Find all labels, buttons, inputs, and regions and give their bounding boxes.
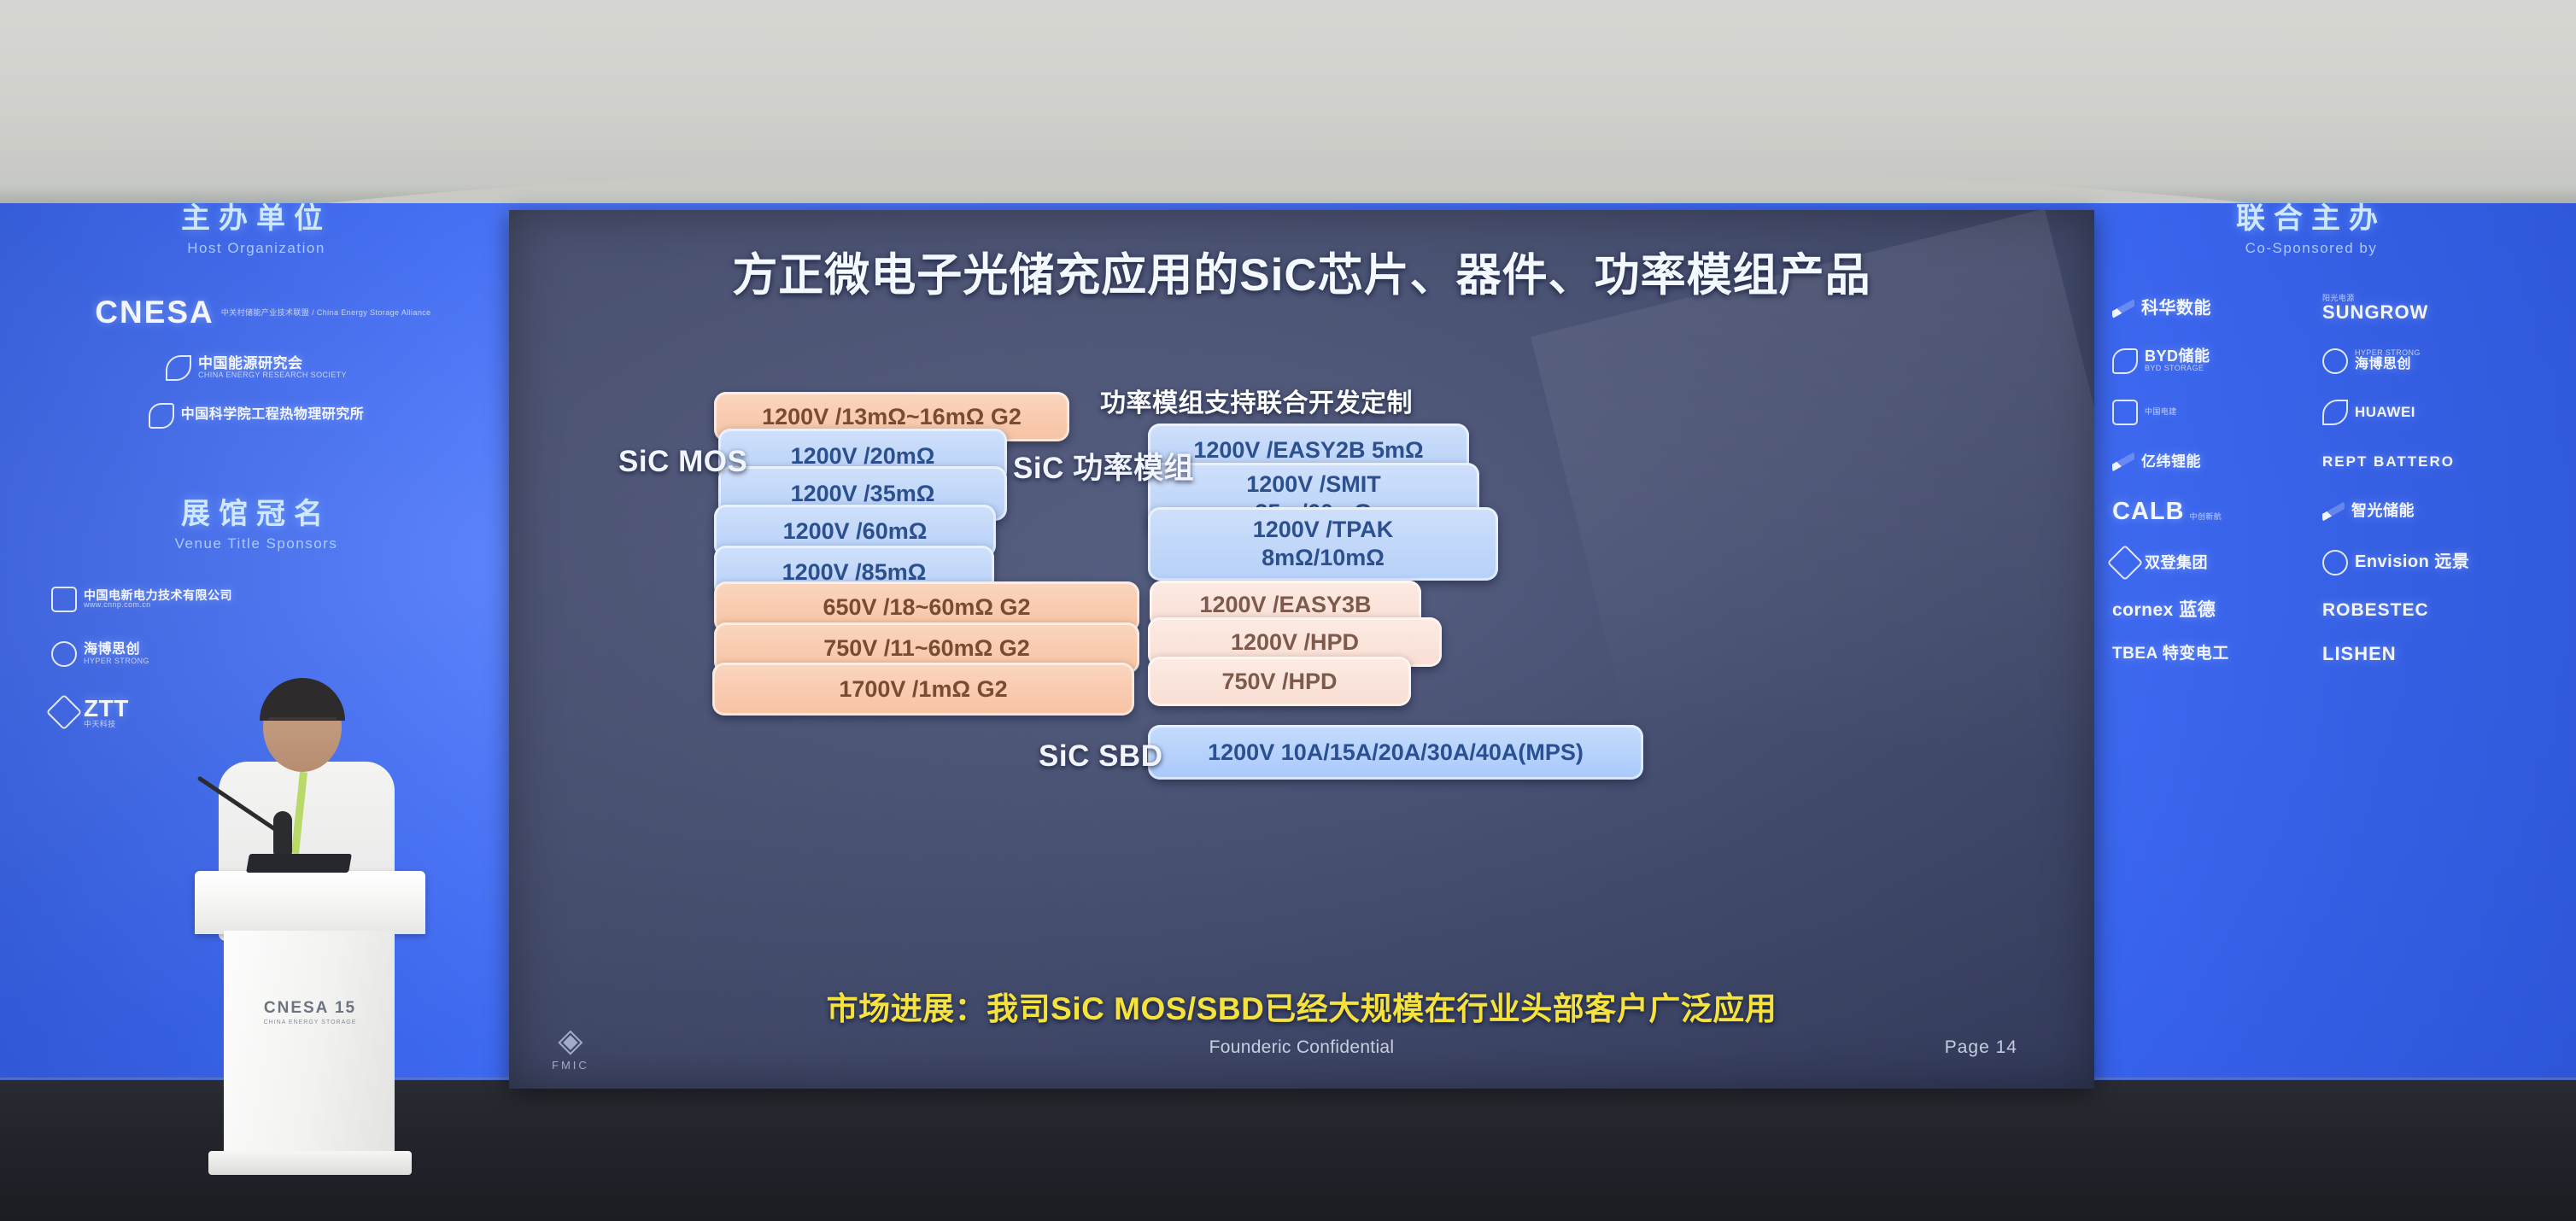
logo-powerchina-name: 中国电建 [2145, 408, 2177, 416]
cosponsor-heading-en: Co-Sponsored by [2046, 240, 2576, 257]
cosponsor-row-6: 双登集团 Envision 远景 [2046, 550, 2576, 575]
logo-cers-name: 中国能源研究会 [198, 356, 303, 371]
podium: CNESA 15 CHINA ENERGY STORAGE [195, 871, 425, 1178]
podium-base [208, 1151, 412, 1175]
cosponsor-row-4: 亿纬锂能 REPT BATTERO [2046, 451, 2576, 473]
podium-logo-main: CNESA 15 [195, 999, 425, 1018]
shoto-icon [2107, 545, 2143, 581]
logo-iet-cas-name: 中国科学院工程热物理研究所 [181, 408, 365, 423]
logo-hyperstrong2-sub: HYPER STRONG [2355, 349, 2421, 357]
logo-kehua-name: 科华数能 [2141, 300, 2211, 318]
logo-sungrow-sub: 阳光电源 [2322, 295, 2355, 302]
logo-lishen: LISHEN [2322, 644, 2510, 663]
zhiguang-icon [2322, 500, 2345, 523]
cosponsor-row-3: 中国电建 HUAWEI [2046, 400, 2576, 425]
page-number: Page 14 [1945, 1037, 2017, 1058]
podium-body [224, 931, 395, 1154]
cosponsor-row-7: cornex 蓝德 ROBESTEC [2046, 601, 2576, 620]
speaker-hair [260, 678, 345, 721]
logo-shoto-name: 双登集团 [2145, 555, 2208, 571]
sic-power-module-label: SiC 功率模组 [1013, 444, 1194, 488]
logo-ztt: ZTT 中天科技 [51, 696, 129, 729]
fmic-name: FMIC [552, 1059, 589, 1072]
logo-hyperstrong-name: 海博思创 [84, 643, 140, 657]
slide-footer: ◈ FMIC Founderic Confidential Page 14 [509, 1022, 2094, 1073]
logo-eve-name: 亿纬锂能 [2141, 454, 2201, 470]
projected-slide: 方正微电子光储充应用的SiC芯片、器件、功率模组产品 SiC MOS 1200V… [509, 210, 2094, 1089]
sic-mos-item-7[interactable]: 1700V /1mΩ G2 [712, 663, 1134, 716]
logo-calb-name: CALB [2112, 499, 2185, 524]
logo-tbea: TBEA 特变电工 [2112, 646, 2283, 663]
logo-lishen-name: LISHEN [2322, 644, 2397, 663]
host-logo-row-2: 中国能源研究会 CHINA ENERGY RESEARCH SOCIETY [0, 355, 512, 381]
logo-ztt-name: ZTT [84, 696, 129, 721]
power-module-item-2[interactable]: 1200V /TPAK 8mΩ/10mΩ [1148, 507, 1498, 581]
host-heading-en: Host Organization [0, 240, 512, 257]
logo-iet-cas: 中国科学院工程热物理研究所 [149, 403, 365, 429]
logo-zhiguang: 智光储能 [2322, 500, 2510, 523]
venue-heading-en: Venue Title Sponsors [0, 535, 512, 552]
powerchina-icon [2112, 400, 2138, 425]
logo-sungrow: 阳光电源 SUNGROW [2322, 295, 2510, 323]
byd-icon [2112, 348, 2138, 374]
building-icon [51, 587, 77, 612]
cosponsor-row-1: 科华数能 阳光电源 SUNGROW [2046, 295, 2576, 323]
logo-cornex: cornex 蓝德 [2112, 601, 2283, 620]
cosponsor-row-8: TBEA 特变电工 LISHEN [2046, 644, 2576, 663]
logo-cers: 中国能源研究会 CHINA ENERGY RESEARCH SOCIETY [166, 355, 347, 381]
right-sponsor-panel: 联合主办 Co-Sponsored by 科华数能 阳光电源 SUNGROW B… [2046, 203, 2576, 1142]
logo-hyperstrong-2: HYPER STRONG 海博思创 [2322, 348, 2510, 374]
cosponsor-row-2: BYD储能 BYD STORAGE HYPER STRONG 海博思创 [2046, 348, 2576, 374]
logo-robestec-name: ROBESTEC [2322, 601, 2429, 620]
cosponsor-heading: 联合主办 Co-Sponsored by [2046, 195, 2576, 257]
logo-hyperstrong2-name: 海博思创 [2355, 358, 2411, 372]
venue-heading-cn: 展馆冠名 [0, 490, 512, 532]
logo-tbea-name: TBEA 特变电工 [2112, 646, 2229, 663]
logo-zhiguang-name: 智光储能 [2351, 503, 2415, 519]
logo-byd-storage: BYD储能 BYD STORAGE [2112, 348, 2283, 374]
logo-cnesa-sub: 中关村储能产业技术联盟 / China Energy Storage Allia… [221, 309, 431, 317]
logo-sungrow-name: SUNGROW [2322, 302, 2428, 322]
podium-logo-sub: CHINA ENERGY STORAGE [195, 1019, 425, 1025]
logo-shoto: 双登集团 [2112, 550, 2283, 575]
wing-icon [2112, 297, 2134, 319]
huawei-petal-icon [2322, 400, 2348, 425]
power-module-heading: 功率模组支持联合开发定制 [1100, 382, 1413, 419]
logo-envision: Envision 远景 [2322, 550, 2510, 575]
confidential-label: Founderic Confidential [509, 1037, 2094, 1058]
cosponsor-row-5: CALB 中创新航 智光储能 [2046, 499, 2576, 524]
host-logo-row-1: CNESA 中关村储能产业技术联盟 / China Energy Storage… [0, 296, 512, 330]
logo-kehua: 科华数能 [2112, 297, 2283, 319]
eve-icon [2112, 451, 2134, 473]
sic-sbd-item[interactable]: 1200V 10A/15A/20A/30A/40A(MPS) [1148, 725, 1643, 780]
hexagon-icon [51, 641, 77, 667]
logo-ztt-sub: 中天科技 [84, 721, 116, 728]
logo-huawei: HUAWEI [2322, 400, 2510, 425]
logo-robestec: ROBESTEC [2322, 601, 2510, 620]
lotus-icon [166, 355, 191, 381]
logo-cnnp: 中国电新电力技术有限公司 www.cnnp.com.cn [51, 587, 232, 612]
venue-logo-row-1: 中国电新电力技术有限公司 www.cnnp.com.cn [51, 587, 512, 612]
sic-sbd-label: SiC SBD [1039, 739, 1162, 774]
logo-eve: 亿纬锂能 [2112, 451, 2283, 473]
host-heading-cn: 主办单位 [0, 195, 512, 237]
envision-icon [2322, 550, 2348, 575]
venue-title-heading: 展馆冠名 Venue Title Sponsors [0, 490, 512, 552]
logo-hyperstrong-sub: HYPER STRONG [84, 657, 149, 665]
podium-top [195, 871, 425, 934]
logo-huawei-name: HUAWEI [2355, 405, 2415, 420]
power-module-item-5[interactable]: 750V /HPD [1148, 657, 1411, 706]
host-organization-heading: 主办单位 Host Organization [0, 195, 512, 257]
logo-calb: CALB 中创新航 [2112, 499, 2283, 524]
laptop-on-podium [246, 854, 352, 873]
logo-byd-sub: BYD STORAGE [2145, 365, 2204, 372]
logo-cnesa-name: CNESA [95, 296, 214, 330]
slide-title: 方正微电子光储充应用的SiC芯片、器件、功率模组产品 [509, 239, 2094, 304]
cosponsor-heading-cn: 联合主办 [2046, 195, 2576, 237]
logo-cornex-name: cornex 蓝德 [2112, 601, 2216, 620]
logo-cnnp-sub: www.cnnp.com.cn [84, 601, 151, 609]
logo-rept-battero: REPT BATTERO [2322, 454, 2510, 470]
host-logo-row-3: 中国科学院工程热物理研究所 [0, 403, 512, 429]
speaker-glasses [268, 717, 337, 732]
logo-envision-name: Envision 远景 [2355, 553, 2469, 571]
hexagon-icon-2 [2322, 348, 2348, 374]
sic-mos-label: SiC MOS [618, 445, 747, 479]
podium-logo: CNESA 15 CHINA ENERGY STORAGE [195, 999, 425, 1025]
wave-icon [149, 403, 174, 429]
logo-cers-sub: CHINA ENERGY RESEARCH SOCIETY [198, 371, 347, 379]
logo-powerchina: 中国电建 [2112, 400, 2283, 425]
logo-calb-sub: 中创新航 [2190, 513, 2222, 521]
venue-logo-row-2: 海博思创 HYPER STRONG [51, 641, 512, 667]
logo-hyperstrong: 海博思创 HYPER STRONG [51, 641, 149, 667]
logo-byd-name: BYD储能 [2145, 348, 2210, 365]
screenshot-stage: 主办单位 Host Organization CNESA 中关村储能产业技术联盟… [0, 0, 2576, 1221]
logo-cnesa: CNESA 中关村储能产业技术联盟 / China Energy Storage… [95, 296, 418, 330]
diamond-icon [46, 694, 82, 730]
logo-rept-name: REPT BATTERO [2322, 454, 2455, 470]
